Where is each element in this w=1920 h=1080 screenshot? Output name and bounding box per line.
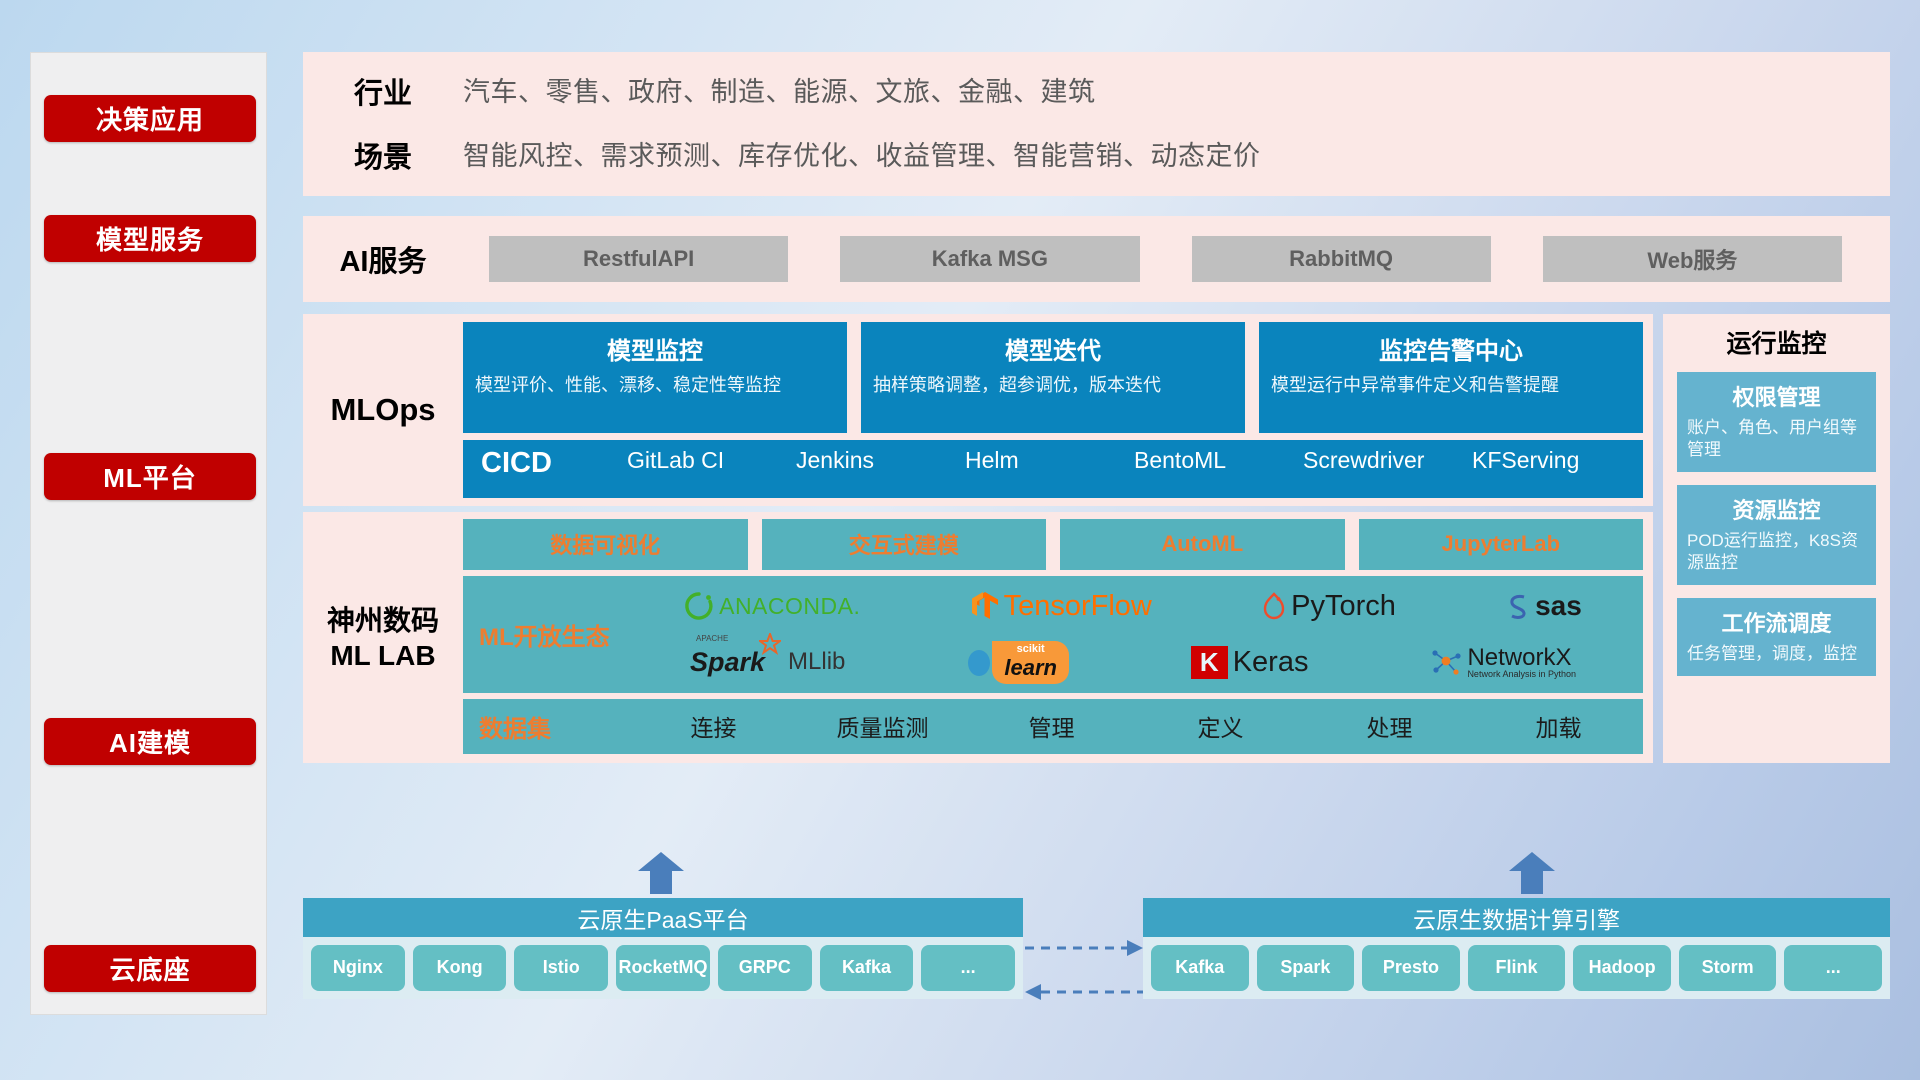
monitor-card-workflow[interactable]: 工作流调度 任务管理，调度，监控 — [1677, 598, 1876, 676]
keras-mark-icon: K — [1191, 646, 1228, 679]
cloud-paas-group: 云原生PaaS平台 Nginx Kong Istio RocketMQ GRPC… — [303, 898, 1023, 999]
card-title: 模型监控 — [475, 331, 835, 366]
engine-chip-flink[interactable]: Flink — [1468, 945, 1566, 991]
mlops-card-model-monitoring[interactable]: 模型监控 模型评价、性能、漂移、稳定性等监控 — [463, 322, 847, 433]
scenario-row: 场景 智能风控、需求预测、库存优化、收益管理、智能营销、动态定价 — [303, 134, 1890, 176]
monitor-card-permissions[interactable]: 权限管理 账户、角色、用户组等管理 — [1677, 372, 1876, 472]
learn-label: learn — [1004, 655, 1057, 681]
card-title: 资源监控 — [1687, 493, 1866, 525]
dataset-item-manage[interactable]: 管理 — [967, 709, 1136, 743]
engine-chip-more[interactable]: ... — [1784, 945, 1882, 991]
card-desc: 模型评价、性能、漂移、稳定性等监控 — [475, 373, 835, 397]
rail-item-model-service[interactable]: 模型服务 — [44, 215, 256, 262]
tensorflow-label: TensorFlow — [1004, 590, 1152, 623]
runtime-monitor-panel: 运行监控 权限管理 账户、角色、用户组等管理 资源监控 POD运行监控，K8S资… — [1663, 314, 1890, 763]
anaconda-logo: ANACONDA. — [684, 591, 860, 621]
ai-service-band: AI服务 RestfulAPI Kafka MSG RabbitMQ Web服务 — [303, 216, 1890, 302]
card-desc: POD运行监控，K8S资源监控 — [1687, 530, 1866, 574]
card-title: 监控告警中心 — [1271, 331, 1631, 366]
ml-lab-content: 数据可视化 交互式建模 AutoML JupyterLab ML开放生态 ANA… — [463, 512, 1653, 763]
left-rail-panel: 决策应用 模型服务 ML平台 AI建模 云底座 — [30, 52, 267, 1015]
card-title: 模型迭代 — [873, 331, 1233, 366]
card-desc: 模型运行中异常事件定义和告警提醒 — [1271, 373, 1631, 397]
mlops-content: 模型监控 模型评价、性能、漂移、稳定性等监控 模型迭代 抽样策略调整，超参调优，… — [463, 314, 1653, 506]
ml-lab-band: 神州数码 ML LAB 数据可视化 交互式建模 AutoML JupyterLa… — [303, 512, 1653, 763]
decision-apps-band: 行业 汽车、零售、政府、制造、能源、文旅、金融、建筑 场景 智能风控、需求预测、… — [303, 52, 1890, 196]
dataset-item-quality[interactable]: 质量监测 — [798, 709, 967, 743]
cicd-strip: CICD GitLab CI Jenkins Helm BentoML Scre… — [463, 440, 1643, 498]
mlops-band: MLOps 模型监控 模型评价、性能、漂移、稳定性等监控 模型迭代 抽样策略调整… — [303, 314, 1653, 506]
tensorflow-mark-icon — [971, 591, 999, 621]
engine-chip-presto[interactable]: Presto — [1362, 945, 1460, 991]
rail-item-ai-modeling[interactable]: AI建模 — [44, 718, 256, 765]
cicd-item-jenkins[interactable]: Jenkins — [790, 447, 959, 473]
networkx-label: NetworkX — [1467, 646, 1576, 670]
pytorch-logo: PyTorch — [1262, 590, 1396, 623]
anaconda-mark-icon — [684, 591, 714, 621]
paas-chip-more[interactable]: ... — [921, 945, 1015, 991]
engine-chip-storm[interactable]: Storm — [1679, 945, 1777, 991]
sas-mark-icon — [1506, 592, 1530, 620]
logo-line-top: ANACONDA. TensorFlow — [629, 579, 1637, 633]
ai-service-label: AI服务 — [303, 238, 463, 280]
scenario-values: 智能风控、需求预测、库存优化、收益管理、智能营销、动态定价 — [463, 134, 1261, 173]
networkx-graph-icon — [1430, 647, 1462, 677]
cloud-paas-chips: Nginx Kong Istio RocketMQ GRPC Kafka ... — [303, 937, 1023, 999]
scikit-learn-logo: scikit learn — [967, 641, 1069, 684]
ai-service-chip-kafka-msg[interactable]: Kafka MSG — [840, 236, 1139, 282]
scenario-label: 场景 — [303, 134, 463, 176]
networkx-tagline: Network Analysis in Python — [1467, 670, 1576, 679]
apache-tag: APACHE — [696, 634, 728, 643]
ai-service-chip-web[interactable]: Web服务 — [1543, 236, 1842, 282]
pytorch-mark-icon — [1262, 591, 1286, 621]
dataset-item-connect[interactable]: 连接 — [629, 709, 798, 743]
mlops-card-alert-center[interactable]: 监控告警中心 模型运行中异常事件定义和告警提醒 — [1259, 322, 1643, 433]
spark-label: Spark — [690, 647, 765, 677]
dataset-row: 数据集 连接 质量监测 管理 定义 处理 加载 — [463, 699, 1643, 755]
paas-chip-kafka[interactable]: Kafka — [820, 945, 914, 991]
spark-star-icon — [759, 633, 781, 655]
rail-item-ml-platform[interactable]: ML平台 — [44, 453, 256, 500]
dataset-item-load[interactable]: 加载 — [1474, 709, 1643, 743]
dataset-label: 数据集 — [479, 709, 629, 744]
cicd-item-bentoml[interactable]: BentoML — [1128, 447, 1297, 473]
engine-chip-kafka[interactable]: Kafka — [1151, 945, 1249, 991]
cloud-engine-group: 云原生数据计算引擎 Kafka Spark Presto Flink Hadoo… — [1143, 898, 1890, 999]
cloud-engine-chips: Kafka Spark Presto Flink Hadoop Storm ..… — [1143, 937, 1890, 999]
networkx-logo: NetworkX Network Analysis in Python — [1430, 646, 1576, 679]
anaconda-label: ANACONDA. — [719, 593, 860, 620]
sas-label: sas — [1535, 590, 1582, 622]
ml-open-ecosystem-label: ML开放生态 — [479, 617, 629, 652]
mlops-card-model-iteration[interactable]: 模型迭代 抽样策略调整，超参调优，版本迭代 — [861, 322, 1245, 433]
ml-open-ecosystem-row: ML开放生态 ANACONDA. — [463, 576, 1643, 693]
cicd-item-screwdriver[interactable]: Screwdriver — [1297, 447, 1466, 473]
keras-label: Keras — [1233, 646, 1309, 679]
ai-service-items: RestfulAPI Kafka MSG RabbitMQ Web服务 — [463, 236, 1890, 282]
up-arrow-paas-icon — [638, 852, 684, 894]
ecosystem-logo-grid: ANACONDA. TensorFlow — [629, 579, 1637, 689]
paas-chip-grpc[interactable]: GRPC — [718, 945, 812, 991]
ml-lab-label: 神州数码 ML LAB — [303, 512, 463, 763]
scikit-label: scikit — [1004, 643, 1057, 655]
industry-label: 行业 — [303, 70, 463, 112]
cicd-title: CICD — [481, 447, 621, 480]
card-desc: 账户、角色、用户组等管理 — [1687, 417, 1866, 461]
pytorch-label: PyTorch — [1291, 590, 1396, 623]
cicd-item-gitlab-ci[interactable]: GitLab CI — [621, 447, 790, 473]
ml-lab-label-line2: ML LAB — [327, 638, 439, 673]
tool-data-visualization[interactable]: 数据可视化 — [463, 519, 748, 570]
paas-chip-rocketmq[interactable]: RocketMQ — [616, 945, 710, 991]
ai-service-chip-rabbitmq[interactable]: RabbitMQ — [1192, 236, 1491, 282]
mlops-cards: 模型监控 模型评价、性能、漂移、稳定性等监控 模型迭代 抽样策略调整，超参调优，… — [463, 322, 1643, 433]
industry-values: 汽车、零售、政府、制造、能源、文旅、金融、建筑 — [463, 70, 1096, 109]
card-desc: 抽样策略调整，超参调优，版本迭代 — [873, 373, 1233, 397]
mllib-label: MLlib — [788, 648, 845, 676]
cicd-item-kfserving[interactable]: KFServing — [1466, 447, 1635, 473]
ml-lab-label-line1: 神州数码 — [327, 603, 439, 638]
card-title: 权限管理 — [1687, 380, 1866, 412]
engine-chip-hadoop[interactable]: Hadoop — [1573, 945, 1671, 991]
card-title: 工作流调度 — [1687, 606, 1866, 638]
ai-service-chip-restfulapi[interactable]: RestfulAPI — [489, 236, 788, 282]
up-arrow-engine-icon — [1509, 852, 1555, 894]
cloud-paas-title: 云原生PaaS平台 — [303, 898, 1023, 937]
bidirectional-connector-icon — [1023, 930, 1145, 1010]
paas-chip-kong[interactable]: Kong — [413, 945, 507, 991]
tool-jupyterlab[interactable]: JupyterLab — [1359, 519, 1644, 570]
card-desc: 任务管理，调度，监控 — [1687, 643, 1866, 665]
tool-interactive-modeling[interactable]: 交互式建模 — [762, 519, 1047, 570]
dataset-item-process[interactable]: 处理 — [1305, 709, 1474, 743]
tensorflow-logo: TensorFlow — [971, 590, 1152, 623]
mlops-label: MLOps — [303, 314, 463, 506]
logo-line-bottom: APACHE Spark MLlib — [629, 635, 1637, 689]
dataset-item-define[interactable]: 定义 — [1136, 709, 1305, 743]
ml-lab-tools: 数据可视化 交互式建模 AutoML JupyterLab — [463, 519, 1643, 570]
rail-item-cloud-foundation[interactable]: 云底座 — [44, 945, 256, 992]
runtime-monitor-title: 运行监控 — [1677, 324, 1876, 360]
spark-mllib-logo: APACHE Spark MLlib — [690, 647, 845, 678]
keras-logo: K Keras — [1191, 646, 1309, 679]
industry-row: 行业 汽车、零售、政府、制造、能源、文旅、金融、建筑 — [303, 70, 1890, 112]
monitor-card-resources[interactable]: 资源监控 POD运行监控，K8S资源监控 — [1677, 485, 1876, 585]
paas-chip-nginx[interactable]: Nginx — [311, 945, 405, 991]
rail-item-decision[interactable]: 决策应用 — [44, 95, 256, 142]
tool-automl[interactable]: AutoML — [1060, 519, 1345, 570]
sas-logo: sas — [1506, 590, 1582, 622]
cloud-engine-title: 云原生数据计算引擎 — [1143, 898, 1890, 937]
paas-chip-istio[interactable]: Istio — [514, 945, 608, 991]
engine-chip-spark[interactable]: Spark — [1257, 945, 1355, 991]
cicd-item-helm[interactable]: Helm — [959, 447, 1128, 473]
